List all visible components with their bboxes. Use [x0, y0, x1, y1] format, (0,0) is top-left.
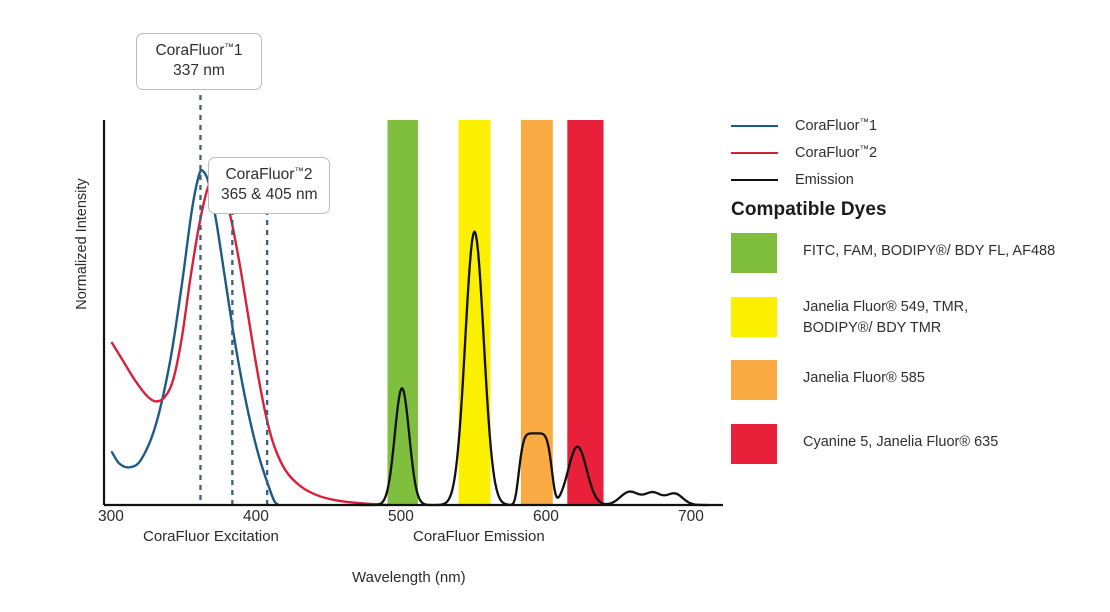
series-legend: CoraFluor™1 CoraFluor™2 Emission: [731, 112, 1071, 193]
callout-1-title: CoraFluor™1: [149, 41, 249, 61]
dye-item: Cyanine 5, Janelia Fluor® 635: [731, 424, 1091, 464]
dye-label: Janelia Fluor® 549, TMR,BODIPY®/ BDY TMR: [803, 297, 968, 338]
legend-swatch-line: [731, 179, 778, 181]
legend-swatch-line: [731, 152, 778, 154]
dye-item: FITC, FAM, BODIPY®/ BDY FL, AF488: [731, 233, 1091, 273]
x-tick-400: 400: [243, 508, 269, 526]
dye-color-swatch: [731, 297, 777, 337]
legend-swatch-line: [731, 125, 778, 127]
curve-corafluor-1: [112, 170, 279, 505]
dye-color-swatch: [731, 360, 777, 400]
dye-label: Cyanine 5, Janelia Fluor® 635: [803, 424, 998, 453]
x-tick-700: 700: [678, 508, 704, 526]
x-tick-300: 300: [98, 508, 124, 526]
x-tick-500: 500: [388, 508, 414, 526]
dye-item: Janelia Fluor® 585: [731, 360, 1091, 400]
legend-item: CoraFluor™1: [731, 112, 1071, 139]
dye-label: Janelia Fluor® 585: [803, 360, 925, 389]
legend-label: Emission: [795, 172, 854, 188]
callout-2-title: CoraFluor™2: [221, 165, 317, 185]
legend-item: Emission: [731, 166, 1071, 193]
dye-color-swatch: [731, 424, 777, 464]
emission-section-label: CoraFluor Emission: [413, 528, 545, 545]
x-axis-title: Wavelength (nm): [352, 569, 466, 586]
x-tick-600: 600: [533, 508, 559, 526]
callout-2-value: 365 & 405 nm: [221, 185, 317, 205]
legend-label: CoraFluor™1: [795, 117, 877, 134]
callout-1-value: 337 nm: [149, 61, 249, 81]
red-band: [567, 120, 603, 505]
dye-color-swatch: [731, 233, 777, 273]
compatible-dyes-heading: Compatible Dyes: [731, 199, 887, 221]
green-band: [388, 120, 418, 505]
dye-item: Janelia Fluor® 549, TMR,BODIPY®/ BDY TMR: [731, 297, 1091, 338]
dye-label: FITC, FAM, BODIPY®/ BDY FL, AF488: [803, 233, 1055, 262]
callout-corafluor-1: CoraFluor™1 337 nm: [136, 33, 262, 90]
legend-item: CoraFluor™2: [731, 139, 1071, 166]
y-axis-title: Normalized Intensity: [74, 159, 90, 329]
yellow-band: [459, 120, 491, 505]
legend-label: CoraFluor™2: [795, 144, 877, 161]
compatible-dyes-list: FITC, FAM, BODIPY®/ BDY FL, AF488 Janeli…: [731, 233, 1091, 488]
callout-corafluor-2: CoraFluor™2 365 & 405 nm: [208, 157, 330, 214]
excitation-section-label: CoraFluor Excitation: [143, 528, 279, 545]
chart-stage: CoraFluor™1 337 nm CoraFluor™2 365 & 405…: [0, 0, 1110, 612]
curve-corafluor-2: [112, 180, 388, 505]
